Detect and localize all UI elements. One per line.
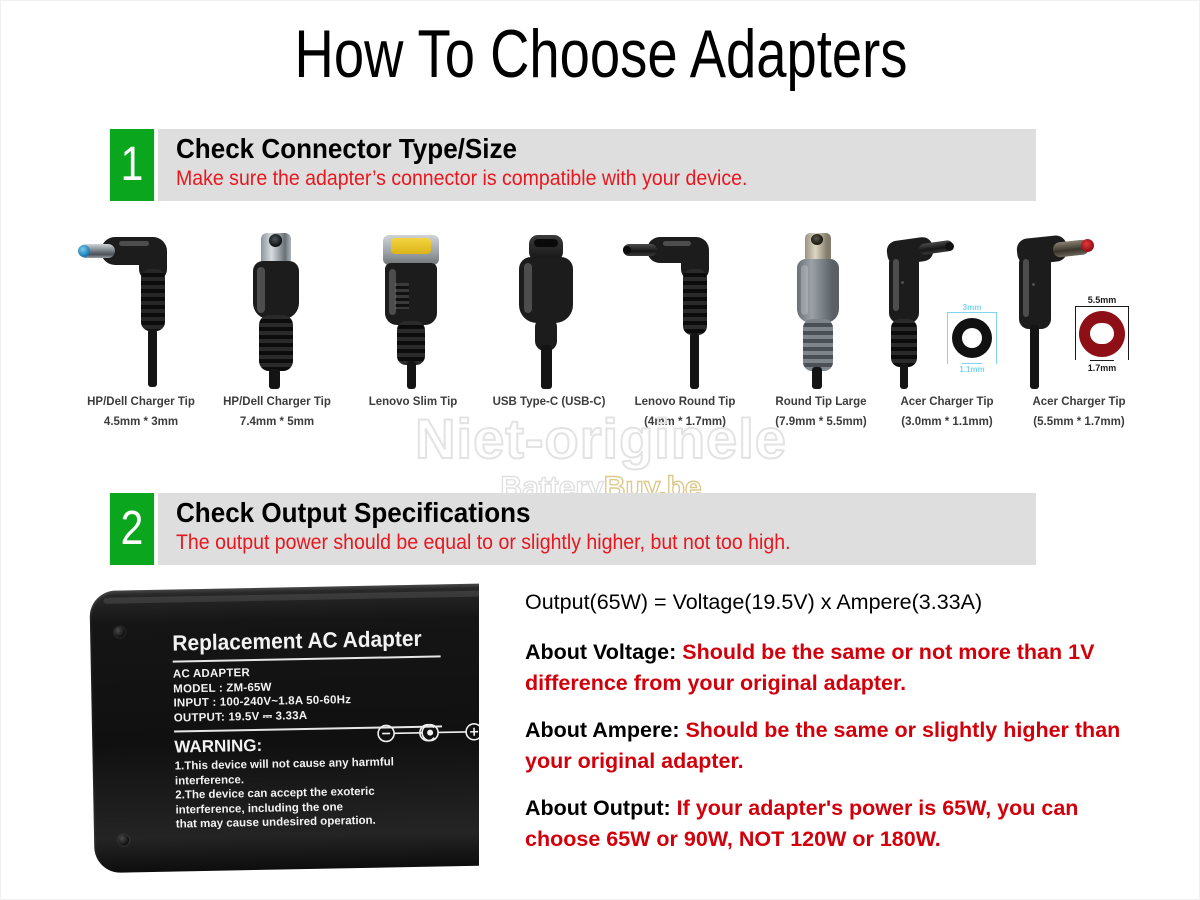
note-key: About Voltage: [525, 640, 682, 664]
infographic-page: How To Choose Adapters 1 Check Connector… [0, 0, 1200, 900]
connector-caption: HP/Dell Charger Tip 7.4mm * 5mm [201, 392, 353, 432]
connector-item-hp-dell-7_4x5: HP/Dell Charger Tip 7.4mm * 5mm [209, 229, 345, 444]
adapter-warning-list: 1.This device will not cause any harmful… [175, 753, 479, 832]
ac-adapter-photo: Replacement AC Adapter AC ADAPTER MODEL … [89, 579, 479, 879]
acer-5_5mm-dimension-inset: 5.5mm 1.7mm [1059, 295, 1145, 381]
step-1-header: 1 Check Connector Type/Size Make sure th… [106, 129, 1036, 201]
connector-item-round-tip-large: Round Tip Large (7.9mm * 5.5mm) [753, 229, 889, 444]
adapter-label: Replacement AC Adapter AC ADAPTER MODEL … [172, 624, 479, 835]
right-angle-small-round-tip-connector-icon [617, 229, 753, 389]
step-2-title: Check Output Specifications [176, 496, 976, 529]
straight-barrel-connector-icon [209, 229, 345, 389]
connector-caption: USB Type-C (USB-C) [473, 392, 625, 412]
step-1-number: 1 [110, 129, 154, 201]
inset-outer-label: 5.5mm [1059, 295, 1145, 305]
inset-outer-label: 3mm [933, 303, 1011, 312]
acer-3mm-dimension-inset: 3mm 1.1mm [933, 303, 1011, 379]
step-2-header: 2 Check Output Specifications The output… [106, 493, 1036, 565]
connector-item-acer-5_5x1_7: 5.5mm 1.7mm Acer Charger Tip (5.5mm * 1.… [1011, 229, 1147, 444]
right-angle-blue-tip-connector-icon [73, 229, 209, 389]
inset-inner-label: 1.1mm [933, 365, 1011, 374]
step-1-title: Check Connector Type/Size [176, 132, 976, 165]
connector-caption: Lenovo Slim Tip [337, 392, 489, 412]
connector-item-acer-3_0x1_1: 3mm 1.1mm Acer Charger Tip (3.0mm * 1.1m… [879, 229, 1015, 444]
step-2-body: Check Output Specifications The output p… [158, 493, 1036, 565]
step-2-number: 2 [110, 493, 154, 565]
inset-inner-label: 1.7mm [1059, 363, 1145, 373]
output-notes: Output(65W) = Voltage(19.5V) x Ampere(3.… [525, 587, 1125, 855]
acer-right-angle-black-tip-connector-icon: 3mm 1.1mm [879, 229, 1015, 389]
divider [173, 655, 441, 662]
output-formula: Output(65W) = Voltage(19.5V) x Ampere(3.… [525, 587, 1125, 618]
connector-item-hp-dell-4_5x3: HP/Dell Charger Tip 4.5mm * 3mm [73, 229, 209, 444]
connector-caption: HP/Dell Charger Tip 4.5mm * 3mm [65, 392, 217, 432]
connector-caption: Acer Charger Tip (5.5mm * 1.7mm) [1003, 392, 1155, 432]
note-about-voltage: About Voltage: Should be the same or not… [525, 637, 1125, 699]
connector-item-usb-type-c: USB Type-C (USB-C) [481, 229, 617, 444]
step-1-subtitle: Make sure the adapter’s connector is com… [176, 165, 976, 193]
screw-icon [114, 626, 125, 637]
adapter-label-title: Replacement AC Adapter [172, 624, 479, 656]
rectangular-yellow-slim-tip-connector-icon [345, 229, 481, 389]
step-1-body: Check Connector Type/Size Make sure the … [158, 129, 1036, 201]
polarity-symbol-icon [376, 721, 479, 745]
acer-right-angle-red-tip-connector-icon: 5.5mm 1.7mm [1011, 229, 1147, 389]
screw-icon [118, 834, 129, 845]
step-2-subtitle: The output power should be equal to or s… [176, 529, 976, 557]
adapter-brick: Replacement AC Adapter AC ADAPTER MODEL … [89, 583, 479, 873]
note-about-ampere: About Ampere: Should be the same or slig… [525, 715, 1125, 777]
usb-type-c-connector-icon [481, 229, 617, 389]
connector-caption: Lenovo Round Tip (4mm * 1.7mm) [609, 392, 761, 432]
connector-caption: Acer Charger Tip (3.0mm * 1.1mm) [871, 392, 1023, 432]
connector-item-lenovo-slim-tip: Lenovo Slim Tip [345, 229, 481, 444]
gray-large-round-tip-connector-icon [753, 229, 889, 389]
page-title: How To Choose Adapters [121, 15, 1081, 93]
connector-item-lenovo-round-tip: Lenovo Round Tip (4mm * 1.7mm) [617, 229, 753, 444]
connector-gallery: HP/Dell Charger Tip 4.5mm * 3mm HP/Dell … [61, 229, 1151, 444]
note-key: About Ampere: [525, 718, 685, 742]
note-key: About Output: [525, 796, 677, 820]
note-about-output: About Output: If your adapter's power is… [525, 793, 1125, 855]
